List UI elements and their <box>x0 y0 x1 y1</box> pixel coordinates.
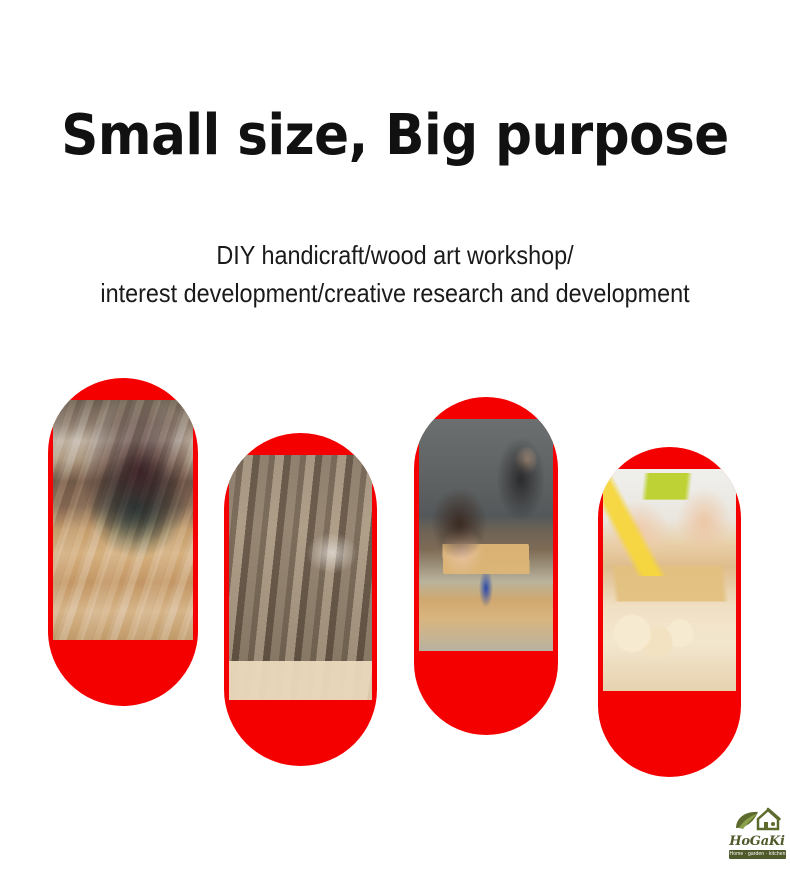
card-label-line: Creative <box>598 0 741 18</box>
card-photo-handicraft-workshop <box>229 455 372 700</box>
card-photo-interest-development <box>419 419 553 651</box>
feature-card-interest-development[interactable] <box>414 397 558 735</box>
feature-card-model-making[interactable] <box>48 378 198 706</box>
brand-logo: HoGaKi Home · garden · kitchen <box>726 806 788 864</box>
card-label-model-making: Model making <box>48 0 198 18</box>
feature-card-creative-research-and-development[interactable] <box>598 447 741 777</box>
card-label-creative-research-and-development: Creative research and development <box>598 0 741 54</box>
card-label-line: development <box>598 36 741 54</box>
card-label-line: workshop <box>224 18 377 36</box>
card-label-handicraft-workshop: Handicraft workshop <box>224 0 377 36</box>
feature-card-strip: Model making Handicraft workshop Interes… <box>0 0 790 870</box>
feature-card-handicraft-workshop[interactable] <box>224 433 377 766</box>
card-label-line: Model making <box>48 0 198 18</box>
card-photo-model-making <box>53 400 193 640</box>
card-label-line: Handicraft <box>224 0 377 18</box>
card-photo-creative-research-and-development <box>603 469 736 691</box>
logo-wordmark: HoGaKi <box>726 834 788 849</box>
photo-carpenter-planing-wood-boards <box>53 400 193 640</box>
photo-stacked-lumber-in-workshop <box>229 455 372 700</box>
card-label-line: research and <box>598 18 741 36</box>
photo-child-and-instructor-woodworking <box>419 419 553 651</box>
card-label-interest-development: Interest development <box>414 0 558 36</box>
logo-tagline: Home · garden · kitchen <box>729 850 786 859</box>
photo-hands-measuring-board-with-tape <box>603 469 736 691</box>
card-label-line: Interest <box>414 0 558 18</box>
card-label-line: development <box>414 18 558 36</box>
leaf-and-house-icon <box>732 806 782 836</box>
